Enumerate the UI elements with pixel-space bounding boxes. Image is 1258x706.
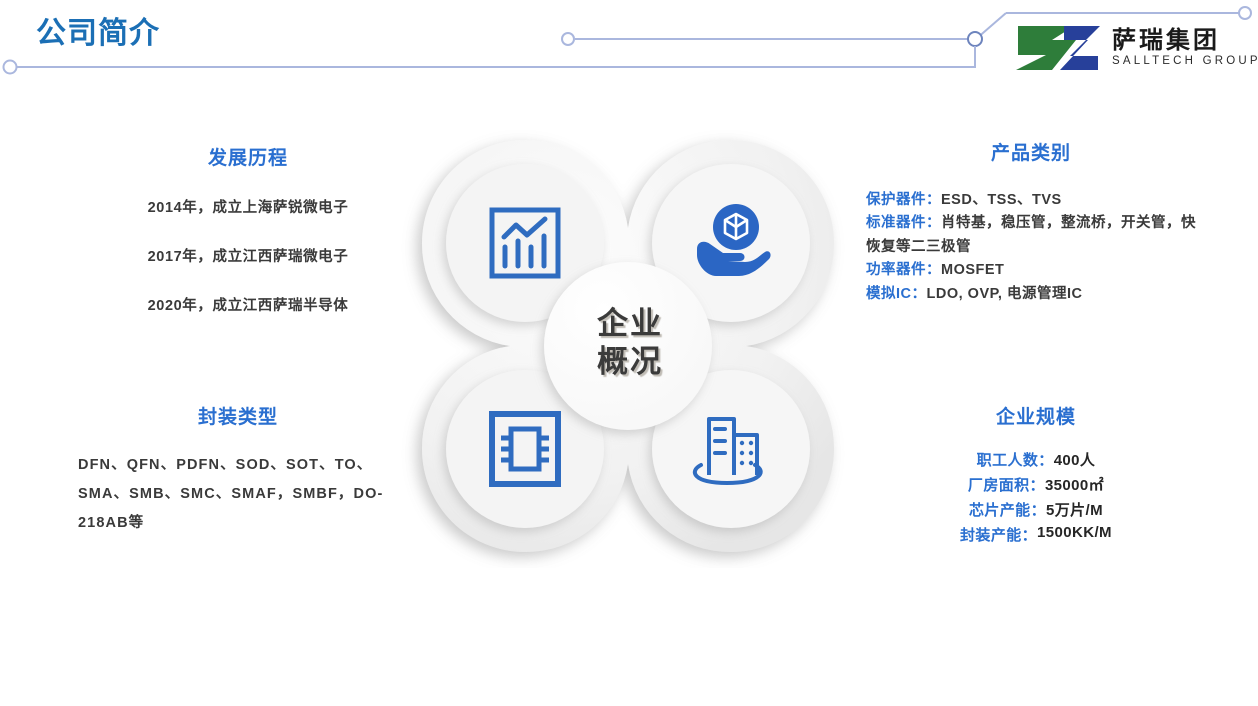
product-category-value: LDO, OVP, 电源管理IC <box>927 286 1083 302</box>
company-overview-diagram: 企业 概况 <box>400 118 860 568</box>
section-product-categories: 产品类别 保护器件：ESD、TSS、TVS 标准器件：肖特基，稳压管，整流桥，开… <box>866 138 1196 306</box>
timeline-item: 2017年，成立江西萨瑞微电子 <box>78 245 418 266</box>
product-category-label: 模拟IC： <box>866 286 927 302</box>
logo-name-en: SALLTECH GROUP <box>1112 56 1258 68</box>
page-header: 公司简介 萨瑞集团 SALLTECH GROUP <box>0 0 1258 95</box>
product-category-label: 标准器件： <box>866 215 941 231</box>
timeline-item: 2020年，成立江西萨瑞半导体 <box>78 294 418 315</box>
scale-label: 芯片产能： <box>969 499 1046 520</box>
product-category-row: 功率器件：MOSFET <box>866 259 1196 282</box>
product-category-row: 模拟IC：LDO, OVP, 电源管理IC <box>866 283 1196 306</box>
scale-label: 职工人数： <box>977 449 1054 470</box>
section-title-package-types: 封装类型 <box>78 402 398 429</box>
product-category-value: MOSFET <box>941 262 1004 278</box>
scale-label: 厂房面积： <box>968 474 1045 495</box>
product-category-label: 保护器件： <box>866 192 941 208</box>
logo-name-cn: 萨瑞集团 <box>1112 29 1258 53</box>
product-category-label: 功率器件： <box>866 262 941 278</box>
diagram-center-circle <box>544 262 712 430</box>
scale-value: 5万片/M <box>1046 499 1103 520</box>
page-title: 公司简介 <box>36 8 160 52</box>
scale-value: 35000㎡ <box>1045 474 1104 495</box>
logo-mark-icon <box>1012 22 1104 74</box>
section-title-product-categories: 产品类别 <box>866 138 1196 165</box>
scale-row: 芯片产能：5万片/M <box>969 499 1103 520</box>
scale-value: 1500KK/M <box>1037 524 1112 545</box>
product-category-row: 标准器件：肖特基，稳压管，整流桥，开关管，快恢复等二三极管 <box>866 212 1196 259</box>
scale-row: 厂房面积：35000㎡ <box>968 474 1104 495</box>
scale-label: 封装产能： <box>960 524 1037 545</box>
section-company-scale: 企业规模 职工人数：400人 厂房面积：35000㎡ 芯片产能：5万片/M 封装… <box>876 402 1196 545</box>
product-category-row: 保护器件：ESD、TSS、TVS <box>866 189 1196 212</box>
logo-text: 萨瑞集团 SALLTECH GROUP <box>1112 29 1258 68</box>
scale-row: 职工人数：400人 <box>977 449 1096 470</box>
product-category-value: ESD、TSS、TVS <box>941 192 1062 208</box>
section-title-company-scale: 企业规模 <box>876 402 1196 429</box>
section-title-development-history: 发展历程 <box>78 143 418 170</box>
package-type-list: DFN、QFN、PDFN、SOD、SOT、TO、SMA、SMB、SMC、SMAF… <box>78 451 398 538</box>
timeline-item: 2014年，成立上海萨锐微电子 <box>78 196 418 217</box>
section-package-types: 封装类型 DFN、QFN、PDFN、SOD、SOT、TO、SMA、SMB、SMC… <box>78 402 398 538</box>
section-development-history: 发展历程 2014年，成立上海萨锐微电子 2017年，成立江西萨瑞微电子 202… <box>78 143 418 343</box>
scale-value: 400人 <box>1054 449 1096 470</box>
scale-row: 封装产能：1500KK/M <box>960 524 1112 545</box>
company-logo: 萨瑞集团 SALLTECH GROUP <box>1012 22 1258 74</box>
